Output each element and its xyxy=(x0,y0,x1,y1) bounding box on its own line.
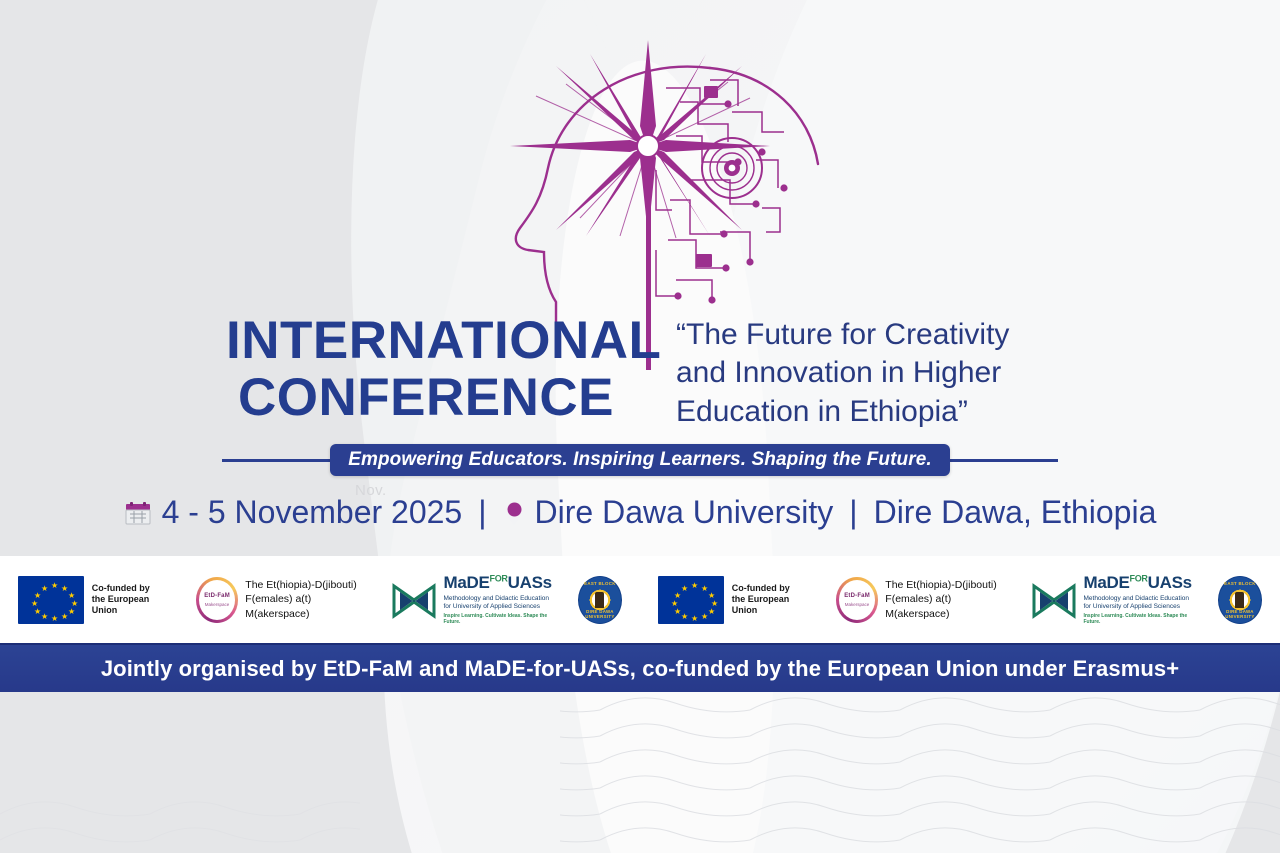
made-m-mark-icon xyxy=(392,580,436,620)
etd-fam-mark-icon: EtD-FaM Makerspace xyxy=(836,577,878,623)
made-for-uass-logo: MaDEFORUASs Methodology and Didactic Edu… xyxy=(1032,574,1191,625)
eu-cofunding-text: Co-funded by the European Union xyxy=(92,583,170,617)
title-line-1: INTERNATIONAL xyxy=(226,312,626,369)
made-sub-line-2: for University of Applied Sciences xyxy=(443,603,551,612)
tagline-text: Empowering Educators. Inspiring Learners… xyxy=(348,449,932,471)
made-title-for: FOR xyxy=(490,573,508,583)
meta-separator-2: | xyxy=(833,494,873,531)
etd-text-line-1: The Et(hiopia)-D(jibouti) xyxy=(245,578,366,592)
page-title: INTERNATIONAL CONFERENCE xyxy=(226,312,626,426)
made-title-a: MaDE xyxy=(443,573,489,592)
seal-tower-glyph xyxy=(1235,592,1244,608)
sponsor-logo-strip: ★ ★ ★ ★ ★ ★ ★ ★ ★ ★ ★ ★ Co-funded by the… xyxy=(0,556,1280,643)
tagline-ribbon: Empowering Educators. Inspiring Learners… xyxy=(330,444,950,476)
eu-text-line-2: the European Union xyxy=(92,594,170,617)
seal-tower-glyph xyxy=(595,592,604,608)
made-tagline: Inspire Learning. Cultivate Ideas. Shape… xyxy=(443,614,551,625)
made-sub-line-1: Methodology and Didactic Education xyxy=(443,595,551,604)
eu-text-line-1: Co-funded by xyxy=(92,583,170,594)
meta-separator-1: | xyxy=(462,494,502,531)
etd-mark-bottom: Makerspace xyxy=(845,602,870,607)
made-title-b: UASs xyxy=(508,573,552,592)
quote-line-1: “The Future for Creativity xyxy=(676,316,1056,354)
seal-text-bottom: DIRE DAWA UNIVERSITY xyxy=(579,609,621,619)
etd-fam-text: The Et(hiopia)-D(jibouti) F(emales) a(t)… xyxy=(245,578,366,621)
conference-theme-quote: “The Future for Creativity and Innovatio… xyxy=(676,316,1056,431)
title-line-2: CONFERENCE xyxy=(226,369,626,426)
made-title-b: UASs xyxy=(1148,573,1192,592)
etd-fam-logo: EtD-FaM Makerspace The Et(hiopia)-D(jibo… xyxy=(196,577,367,623)
etd-text-line-1: The Et(hiopia)-D(jibouti) xyxy=(885,578,1006,592)
eu-cofunding-logo: ★ ★ ★ ★ ★ ★ ★ ★ ★ ★ ★ ★ Co-funded by the… xyxy=(658,576,810,624)
logo-set-2: ★ ★ ★ ★ ★ ★ ★ ★ ★ ★ ★ ★ Co-funded by the… xyxy=(640,574,1280,625)
made-text-block: MaDEFORUASs Methodology and Didactic Edu… xyxy=(1083,574,1191,625)
event-meta-line: 4 - 5 November 2025 | Dire Dawa Universi… xyxy=(0,494,1280,531)
seal-text-bottom: DIRE DAWA UNIVERSITY xyxy=(1219,609,1261,619)
made-title-for: FOR xyxy=(1130,573,1148,583)
event-date: 4 - 5 November 2025 xyxy=(124,494,463,531)
etd-mark-top: EtD-FaM xyxy=(844,593,870,599)
eu-cofunding-text: Co-funded by the European Union xyxy=(732,583,810,617)
event-venue: Dire Dawa University xyxy=(503,494,834,531)
made-subtitle: Methodology and Didactic Education for U… xyxy=(1083,595,1191,613)
map-pin-icon xyxy=(503,499,525,527)
etd-fam-mark-icon: EtD-FaM Makerspace xyxy=(196,577,238,623)
quote-line-3: Education in Ethiopia” xyxy=(676,393,1056,431)
made-for-uass-logo: MaDEFORUASs Methodology and Didactic Edu… xyxy=(392,574,551,625)
made-title: MaDEFORUASs xyxy=(1083,574,1191,593)
etd-mark-top: EtD-FaM xyxy=(204,593,230,599)
made-text-block: MaDEFORUASs Methodology and Didactic Edu… xyxy=(443,574,551,625)
made-tagline: Inspire Learning. Cultivate Ideas. Shape… xyxy=(1083,614,1191,625)
event-date-text: 4 - 5 November 2025 xyxy=(162,494,463,531)
conference-poster: INTERNATIONAL CONFERENCE “The Future for… xyxy=(0,0,1280,853)
eu-cofunding-logo: ★ ★ ★ ★ ★ ★ ★ ★ ★ ★ ★ ★ Co-funded by the… xyxy=(18,576,170,624)
eu-text-line-1: Co-funded by xyxy=(732,583,810,594)
made-subtitle: Methodology and Didactic Education for U… xyxy=(443,595,551,613)
made-title-a: MaDE xyxy=(1083,573,1129,592)
organiser-banner: Jointly organised by EtD-FaM and MaDE-fo… xyxy=(0,643,1280,692)
eu-flag-icon: ★ ★ ★ ★ ★ ★ ★ ★ ★ ★ ★ ★ xyxy=(18,576,84,624)
etd-text-line-2: F(emales) a(t) M(akerspace) xyxy=(885,592,1006,620)
event-location: Dire Dawa, Ethiopia xyxy=(874,494,1157,531)
made-sub-line-2: for University of Applied Sciences xyxy=(1083,603,1191,612)
event-venue-text: Dire Dawa University xyxy=(535,494,834,531)
logo-set-1: ★ ★ ★ ★ ★ ★ ★ ★ ★ ★ ★ ★ Co-funded by the… xyxy=(0,574,640,625)
made-m-mark-icon xyxy=(1032,580,1076,620)
organiser-banner-text: Jointly organised by EtD-FaM and MaDE-fo… xyxy=(101,656,1179,682)
partners-section: PARTNERS HEILBRONN UNIVERSITY OF APPLIED… xyxy=(0,692,1280,853)
etd-text-line-2: F(emales) a(t) M(akerspace) xyxy=(245,592,366,620)
dire-dawa-university-seal-icon: EAST BLOCK DIRE DAWA UNIVERSITY xyxy=(578,576,622,624)
eu-flag-icon: ★ ★ ★ ★ ★ ★ ★ ★ ★ ★ ★ ★ xyxy=(658,576,724,624)
eu-text-line-2: the European Union xyxy=(732,594,810,617)
calendar-icon xyxy=(124,499,152,527)
quote-line-2: and Innovation in Higher xyxy=(676,354,1056,392)
dire-dawa-university-seal-icon: EAST BLOCK DIRE DAWA UNIVERSITY xyxy=(1218,576,1262,624)
etd-fam-text: The Et(hiopia)-D(jibouti) F(emales) a(t)… xyxy=(885,578,1006,621)
made-title: MaDEFORUASs xyxy=(443,574,551,593)
made-sub-line-1: Methodology and Didactic Education xyxy=(1083,595,1191,604)
event-location-text: Dire Dawa, Ethiopia xyxy=(874,494,1157,531)
etd-fam-logo: EtD-FaM Makerspace The Et(hiopia)-D(jibo… xyxy=(836,577,1007,623)
seal-text-top: EAST BLOCK xyxy=(579,581,621,586)
seal-text-top: EAST BLOCK xyxy=(1219,581,1261,586)
etd-mark-bottom: Makerspace xyxy=(205,602,230,607)
